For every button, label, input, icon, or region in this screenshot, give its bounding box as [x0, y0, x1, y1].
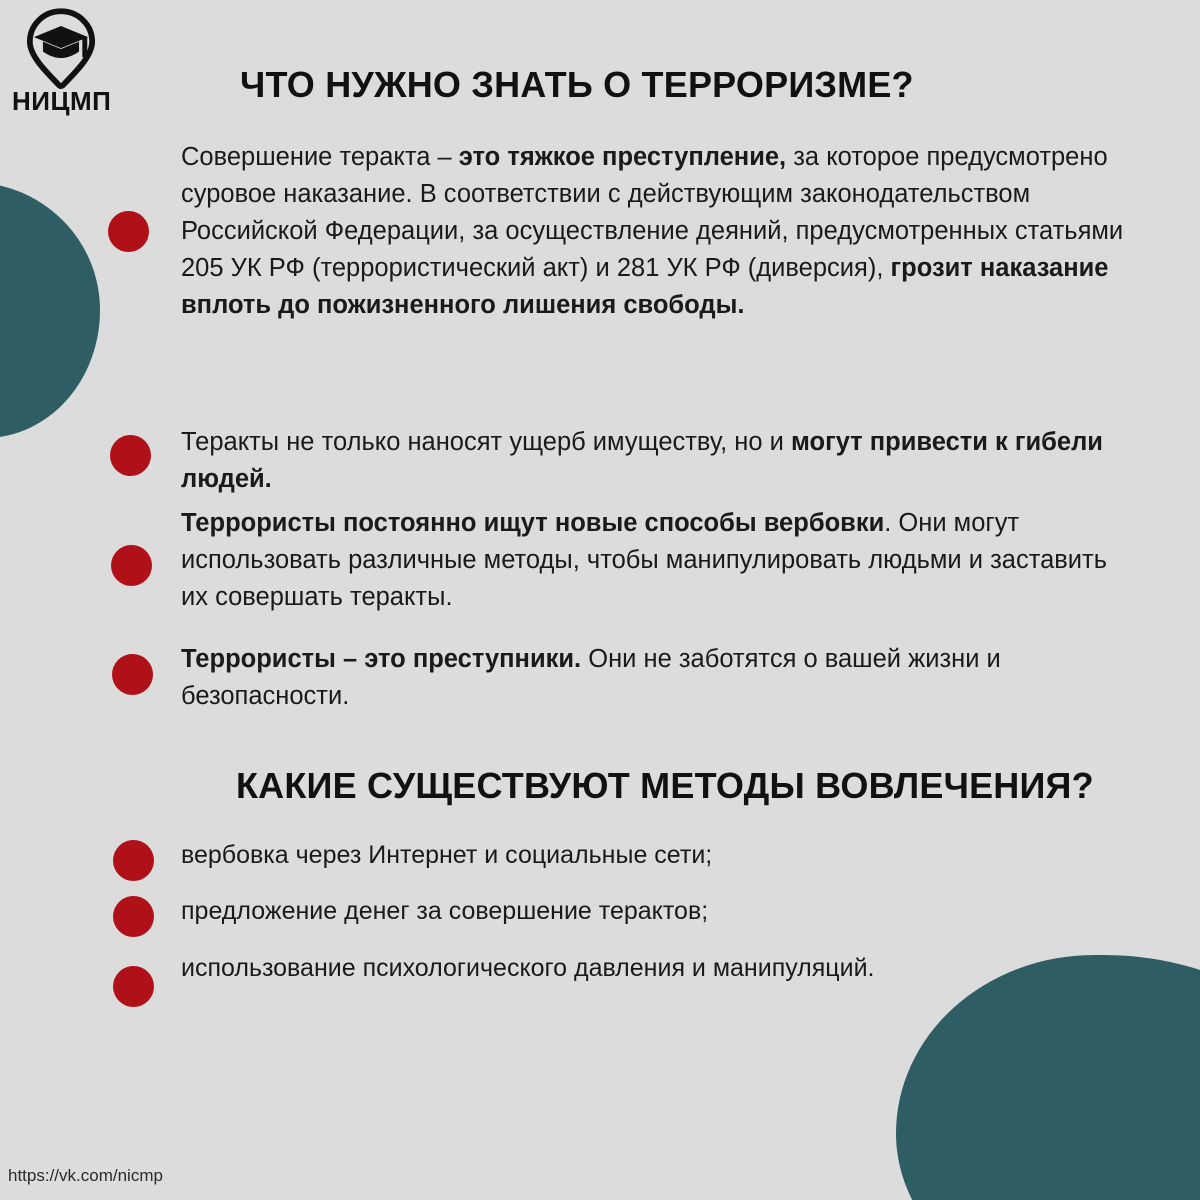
- method-item-1-text: вербовка через Интернет и социальные сет…: [181, 837, 1131, 874]
- method-item-2-text: предложение денег за совершение терактов…: [181, 893, 1131, 930]
- bullet-dot-method-1: [113, 840, 154, 881]
- know-item-2-text: Теракты не только наносят ущерб имуществ…: [181, 424, 1131, 498]
- bullet-dot-method-3: [113, 966, 154, 1007]
- bullet-dot-know-2: [110, 435, 151, 476]
- know-item-1-text: Совершение теракта – это тяжкое преступл…: [181, 139, 1131, 324]
- teal-blob-bottom-right-decoration: [896, 955, 1200, 1200]
- know-item-2-richtext: Теракты не только наносят ущерб имуществ…: [181, 428, 1103, 493]
- map-pin-graduation-cap-icon: [20, 8, 102, 90]
- page-title-primary: ЧТО НУЖНО ЗНАТЬ О ТЕРРОРИЗМЕ?: [240, 64, 914, 106]
- teal-blob-left-decoration: [0, 182, 100, 438]
- page-title-secondary: КАКИЕ СУЩЕСТВУЮТ МЕТОДЫ ВОВЛЕЧЕНИЯ?: [236, 765, 1094, 807]
- bullet-dot-know-3: [111, 545, 152, 586]
- know-item-3-text: Террористы постоянно ищут новые способы …: [181, 505, 1131, 616]
- poster-canvas: НИЦМП ЧТО НУЖНО ЗНАТЬ О ТЕРРОРИЗМЕ? Сове…: [0, 0, 1200, 1200]
- method-item-3-richtext: использование психологического давления …: [181, 954, 875, 982]
- bullet-dot-know-4: [112, 654, 153, 695]
- method-item-2-richtext: предложение денег за совершение терактов…: [181, 897, 708, 925]
- know-item-1-richtext: Совершение теракта – это тяжкое преступл…: [181, 143, 1123, 319]
- know-item-3-richtext: Террористы постоянно ищут новые способы …: [181, 509, 1107, 611]
- method-item-3-text: использование психологического давления …: [181, 950, 881, 987]
- bullet-dot-know-1: [108, 211, 149, 252]
- footer-url[interactable]: https://vk.com/nicmp: [8, 1166, 163, 1186]
- bullet-dot-method-2: [113, 896, 154, 937]
- know-item-4-text: Террористы – это преступники. Они не заб…: [181, 641, 1131, 715]
- method-item-1-richtext: вербовка через Интернет и социальные сет…: [181, 841, 712, 869]
- brand-logo: НИЦМП: [12, 8, 132, 114]
- know-item-4-richtext: Террористы – это преступники. Они не заб…: [181, 645, 1001, 710]
- brand-name: НИЦМП: [12, 88, 132, 114]
